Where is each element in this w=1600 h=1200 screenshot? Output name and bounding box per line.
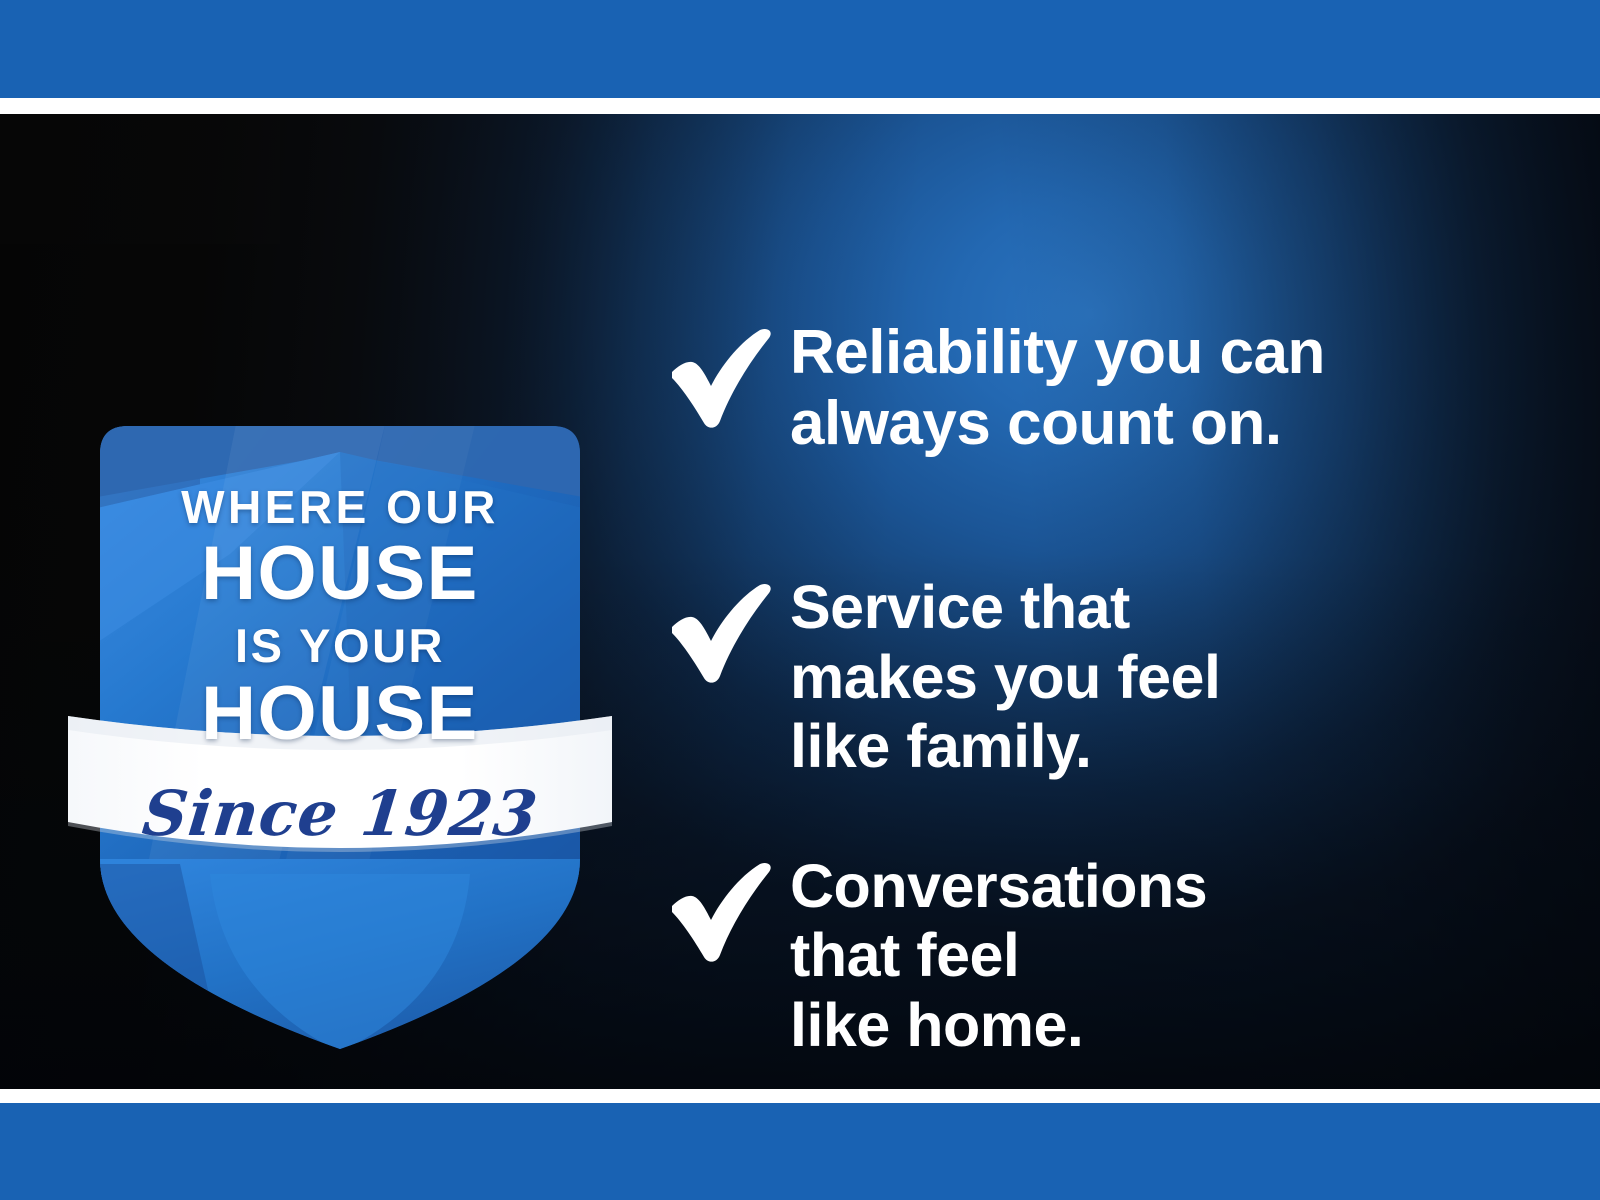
list-item-line: that feel xyxy=(790,921,1498,991)
list-item-line: Conversations xyxy=(790,852,1498,922)
badge-line-3: IS YOUR xyxy=(60,622,620,669)
grain-texture xyxy=(0,114,280,244)
badge-line-1: WHERE OUR xyxy=(60,484,620,530)
list-item: Service that makes you feel like family. xyxy=(668,569,1498,782)
ribbon-text-wrap: Since 1923 xyxy=(60,777,620,850)
list-item-line: Reliability you can xyxy=(790,318,1498,389)
list-item-line: like home. xyxy=(790,991,1498,1061)
list-item: Reliability you can always count on. xyxy=(668,314,1498,459)
list-item-text: Reliability you can always count on. xyxy=(790,314,1498,459)
list-item-text: Conversations that feel like home. xyxy=(790,848,1498,1061)
list-item-line: like family. xyxy=(790,712,1498,782)
shield-badge: WHERE OUR HOUSE IS YOUR HOUSE Since 1923 xyxy=(60,404,620,1074)
marketing-graphic: WHERE OUR HOUSE IS YOUR HOUSE Since 1923… xyxy=(0,0,1600,1200)
list-item-line: Service that xyxy=(790,573,1498,643)
check-icon xyxy=(668,848,790,966)
benefit-list: Reliability you can always count on. Ser… xyxy=(668,314,1498,1061)
badge-line-4: HOUSE xyxy=(60,676,620,752)
ribbon-since-text: Since 1923 xyxy=(139,777,541,850)
list-item: Conversations that feel like home. xyxy=(668,848,1498,1061)
main-dark-panel: WHERE OUR HOUSE IS YOUR HOUSE Since 1923… xyxy=(0,114,1600,1089)
check-icon xyxy=(668,569,790,687)
badge-line-2: HOUSE xyxy=(60,536,620,612)
top-brand-bar xyxy=(0,0,1600,98)
list-item-line: makes you feel xyxy=(790,643,1498,713)
list-item-text: Service that makes you feel like family. xyxy=(790,569,1498,782)
check-icon xyxy=(668,314,790,432)
bottom-brand-bar xyxy=(0,1103,1600,1200)
list-item-line: always count on. xyxy=(790,389,1498,460)
